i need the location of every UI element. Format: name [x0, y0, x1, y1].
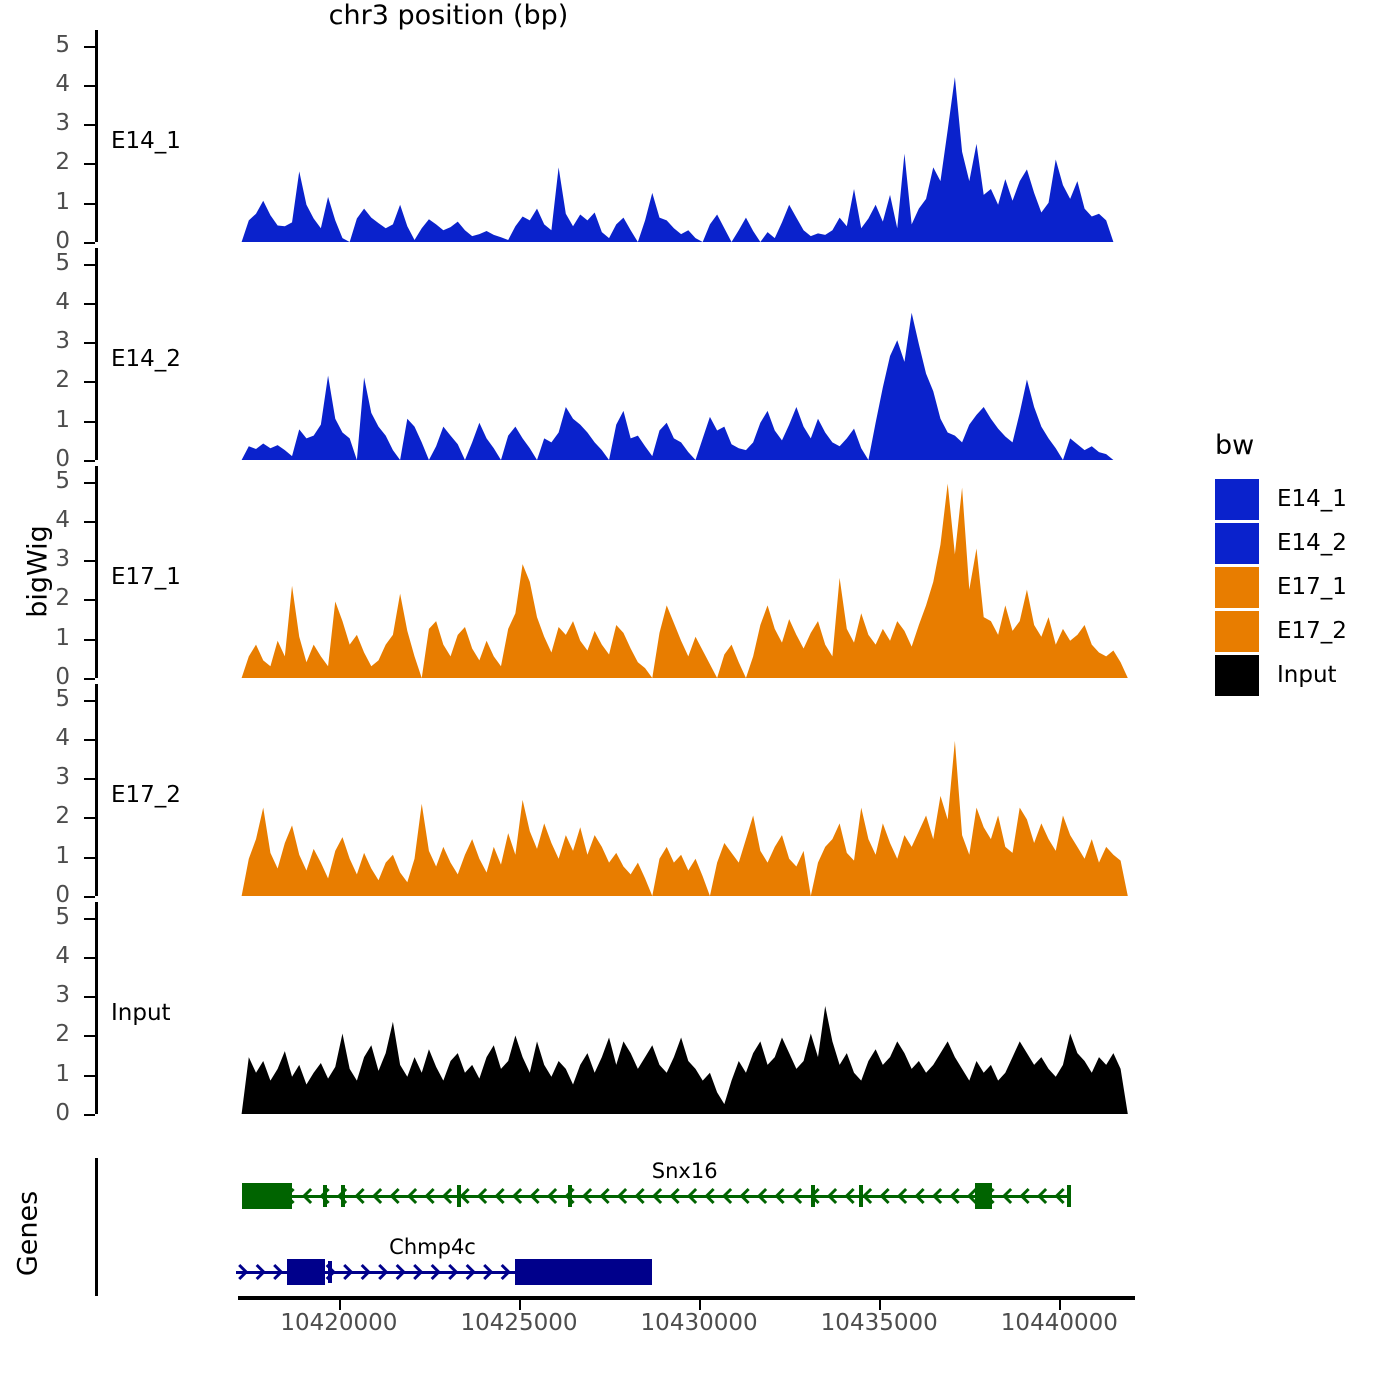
ytick	[84, 242, 95, 244]
ytick-label: 2	[0, 585, 70, 611]
yaxis-title-genes: Genes	[13, 1159, 44, 1309]
ytick	[84, 599, 95, 601]
ytick	[84, 421, 95, 423]
legend-label: E14_1	[1277, 486, 1347, 512]
genes-axis-line	[95, 1158, 98, 1296]
ytick	[84, 996, 95, 998]
ytick-label: 2	[0, 367, 70, 393]
legend-swatch	[1215, 611, 1259, 652]
xtick	[699, 1300, 701, 1310]
xtick-label: 10435000	[779, 1310, 979, 1336]
ytick-label: 1	[0, 407, 70, 433]
legend: bw E14_1E14_2E17_1E17_2Input	[1215, 430, 1347, 697]
xtick-label: 10420000	[239, 1310, 439, 1336]
ytick-label: 5	[0, 32, 70, 58]
wig-area-e14_2	[0, 0, 1400, 1400]
ytick	[84, 163, 95, 165]
gene-exon	[859, 1185, 863, 1207]
ytick-label: 0	[0, 1100, 70, 1126]
ytick	[84, 521, 95, 523]
xtick-label: 10430000	[599, 1310, 799, 1336]
xtick-label: 10440000	[959, 1310, 1159, 1336]
ytick-label: 1	[0, 625, 70, 651]
gene-exon	[341, 1185, 345, 1207]
xtick-label: 10425000	[419, 1310, 619, 1336]
ytick	[84, 303, 95, 305]
track-label-e17_1: E17_1	[111, 564, 181, 590]
ytick	[84, 264, 95, 266]
ytick	[84, 46, 95, 48]
legend-label: E14_2	[1277, 530, 1347, 556]
legend-items: E14_1E14_2E17_1E17_2Input	[1215, 477, 1347, 697]
legend-label: E17_2	[1277, 618, 1347, 644]
ytick	[84, 957, 95, 959]
ytick	[84, 700, 95, 702]
yaxis-line	[95, 902, 98, 1114]
xtick	[1059, 1300, 1061, 1310]
legend-item-input[interactable]: Input	[1215, 653, 1347, 697]
ytick-label: 3	[0, 982, 70, 1008]
ytick-label: 4	[0, 289, 70, 315]
gene-label-chmp4c: Chmp4c	[389, 1235, 476, 1259]
ytick	[84, 778, 95, 780]
track-label-e14_1: E14_1	[111, 128, 181, 154]
ytick-label: 4	[0, 71, 70, 97]
ytick-label: 2	[0, 149, 70, 175]
ytick-label: 4	[0, 507, 70, 533]
wig-area-e17_2	[0, 0, 1400, 1400]
ytick	[84, 918, 95, 920]
ytick-label: 3	[0, 764, 70, 790]
gene-exon	[287, 1259, 326, 1285]
legend-swatch	[1215, 523, 1259, 564]
gene-exon	[568, 1185, 572, 1207]
legend-swatch	[1215, 567, 1259, 608]
wig-area-e14_1	[0, 0, 1400, 1400]
ytick	[84, 560, 95, 562]
ytick	[84, 817, 95, 819]
legend-item-e14_1[interactable]: E14_1	[1215, 477, 1347, 521]
ytick	[84, 678, 95, 680]
ytick	[84, 342, 95, 344]
gene-exon	[1067, 1185, 1071, 1207]
ytick-label: 1	[0, 843, 70, 869]
yaxis-line	[95, 248, 98, 460]
strand-arrow-layer	[0, 0, 1400, 1400]
wig-area-input	[0, 0, 1400, 1400]
gene-exon	[811, 1185, 815, 1207]
strand-arrow-layer	[0, 0, 1400, 1400]
xtick	[519, 1300, 521, 1310]
legend-label: Input	[1277, 662, 1337, 688]
ytick	[84, 739, 95, 741]
ytick-label: 3	[0, 328, 70, 354]
gene-exon	[328, 1261, 332, 1283]
gene-exon	[242, 1183, 292, 1209]
legend-swatch	[1215, 655, 1259, 696]
track-label-input: Input	[111, 1000, 171, 1026]
ytick-label: 5	[0, 250, 70, 276]
ytick	[84, 1035, 95, 1037]
yaxis-line	[95, 684, 98, 896]
gene-exon	[457, 1185, 461, 1207]
ytick-label: 5	[0, 468, 70, 494]
legend-swatch	[1215, 479, 1259, 520]
xtick	[339, 1300, 341, 1310]
ytick	[84, 460, 95, 462]
ytick	[84, 203, 95, 205]
ytick-label: 2	[0, 803, 70, 829]
legend-title: bw	[1215, 430, 1347, 461]
ytick	[84, 124, 95, 126]
ytick	[84, 857, 95, 859]
legend-label: E17_1	[1277, 574, 1347, 600]
ytick	[84, 896, 95, 898]
wig-area-e17_1	[0, 0, 1400, 1400]
ytick	[84, 85, 95, 87]
ytick-label: 3	[0, 110, 70, 136]
ytick	[84, 381, 95, 383]
ytick-label: 4	[0, 943, 70, 969]
ytick	[84, 482, 95, 484]
xaxis-title: chr3 position (bp)	[0, 0, 897, 31]
track-label-e17_2: E17_2	[111, 782, 181, 808]
ytick-label: 3	[0, 546, 70, 572]
xtick	[879, 1300, 881, 1310]
xaxis-line	[238, 1296, 1135, 1300]
yaxis-line	[95, 466, 98, 678]
gene-intron-line	[242, 1195, 1071, 1198]
ytick-label: 1	[0, 1061, 70, 1087]
gene-label-snx16: Snx16	[652, 1159, 718, 1183]
ytick	[84, 639, 95, 641]
gene-exon	[323, 1185, 327, 1207]
legend-item-e14_2[interactable]: E14_2	[1215, 521, 1347, 565]
ytick-label: 5	[0, 686, 70, 712]
ytick	[84, 1114, 95, 1116]
ytick-label: 1	[0, 189, 70, 215]
track-label-e14_2: E14_2	[111, 346, 181, 372]
legend-item-e17_1[interactable]: E17_1	[1215, 565, 1347, 609]
ytick-label: 4	[0, 725, 70, 751]
ytick-label: 2	[0, 1021, 70, 1047]
legend-item-e17_2[interactable]: E17_2	[1215, 609, 1347, 653]
gene-exon	[515, 1259, 652, 1285]
ytick-label: 5	[0, 904, 70, 930]
gene-exon	[975, 1183, 992, 1209]
yaxis-line	[95, 30, 98, 242]
ytick	[84, 1075, 95, 1077]
